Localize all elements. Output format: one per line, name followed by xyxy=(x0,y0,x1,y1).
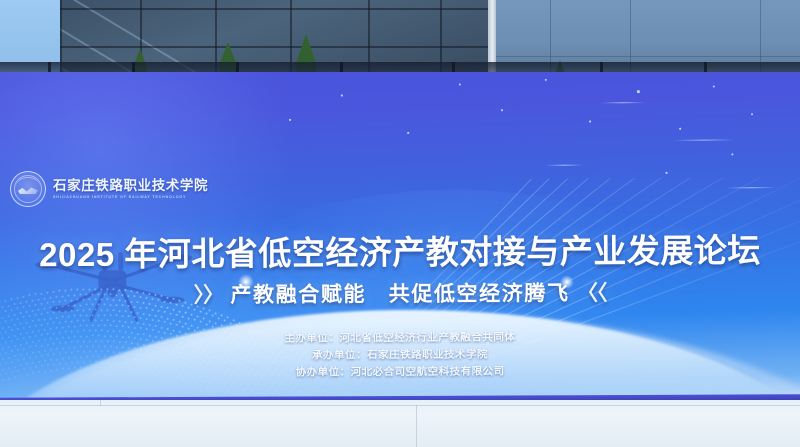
sparkle-decor xyxy=(560,275,574,289)
floor-seam xyxy=(0,405,800,406)
glass-transom xyxy=(60,8,500,10)
sparkle-decor xyxy=(238,274,254,290)
screenshot-scene: 石家庄铁路职业技术学院 SHIJIAZHUANG INSTITUTE OF RA… xyxy=(0,0,800,447)
institute-name-block: 石家庄铁路职业技术学院 SHIJIAZHUANG INSTITUTE OF RA… xyxy=(53,179,208,200)
event-banner: 石家庄铁路职业技术学院 SHIJIAZHUANG INSTITUTE OF RA… xyxy=(0,72,800,402)
chevron-left-decor: 〉〉 xyxy=(194,284,224,307)
institute-name-cn: 石家庄铁路职业技术学院 xyxy=(53,179,208,193)
wall-seam xyxy=(496,56,800,57)
institute-seal-icon xyxy=(10,171,46,207)
floor-seam xyxy=(100,400,101,406)
banner-title: 2025 年河北省低空经济产教对接与产业发展论坛 xyxy=(0,224,800,277)
glass-transom xyxy=(60,46,500,48)
floor-surface xyxy=(0,400,800,447)
seal-arc xyxy=(16,177,40,187)
floor-seam xyxy=(416,405,417,447)
banner-subtitle-text: 产教融合赋能 共促低空经济腾飞 xyxy=(230,282,569,307)
organizer-list: 主办单位：河北省低空经济行业产教融合共同体 承办单位：石家庄铁路职业技术学院 协… xyxy=(0,328,800,383)
banner-subtitle: 〉〉 产教融合赋能 共促低空经济腾飞 〈〈 xyxy=(0,276,800,310)
institute-logo: 石家庄铁路职业技术学院 SHIJIAZHUANG INSTITUTE OF RA… xyxy=(10,171,208,207)
institute-name-en: SHIJIAZHUANG INSTITUTE OF RAILWAY TECHNO… xyxy=(53,196,208,200)
chevron-right-decor: 〈〈 xyxy=(577,282,607,305)
